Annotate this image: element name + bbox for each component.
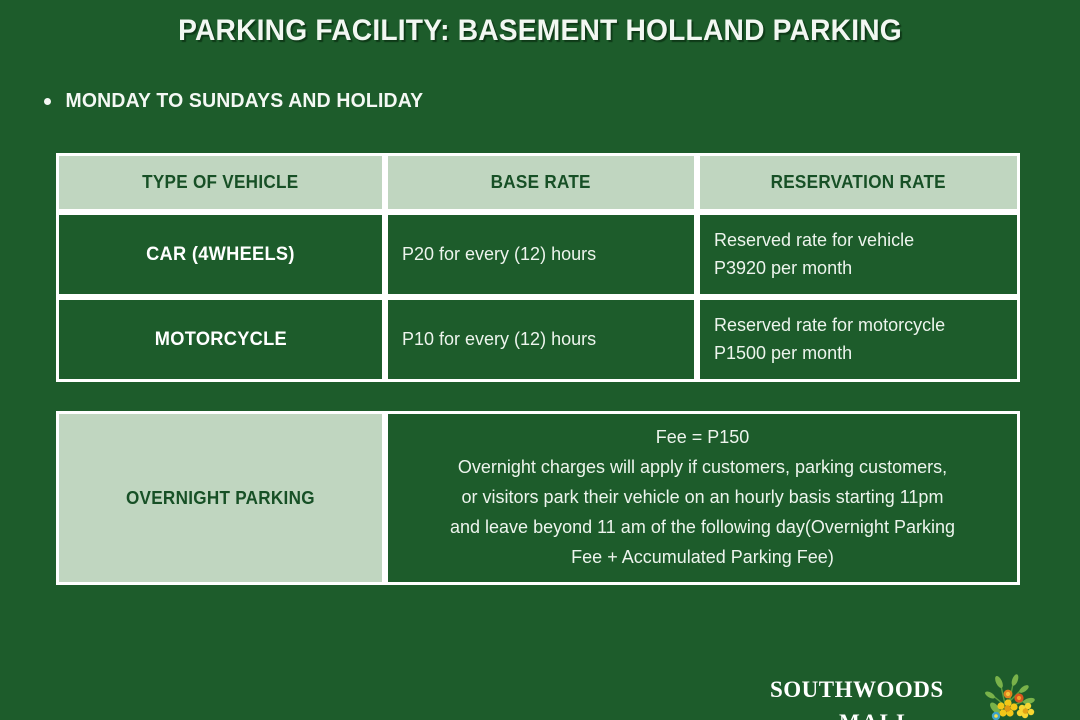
cell-vehicle-motorcycle: MOTORCYCLE xyxy=(56,297,385,382)
column-header-type-of-vehicle: TYPE OF VEHICLE xyxy=(56,153,385,212)
reservation-rate-car-line2: P3920 per month xyxy=(714,255,1017,283)
overnight-line-4: and leave beyond 11 am of the following … xyxy=(398,513,1007,543)
overnight-parking-description: Fee = P150 Overnight charges will apply … xyxy=(385,411,1020,585)
parking-rate-table: TYPE OF VEHICLE BASE RATE RESERVATION RA… xyxy=(56,153,1020,382)
bullet-dot-icon xyxy=(44,98,51,105)
column-header-reservation-rate: RESERVATION RATE xyxy=(697,153,1020,212)
table-header-row: TYPE OF VEHICLE BASE RATE RESERVATION RA… xyxy=(56,153,1020,212)
floral-decoration-icon xyxy=(975,672,1045,720)
page-title: PARKING FACILITY: BASEMENT HOLLAND PARKI… xyxy=(32,14,1047,48)
cell-base-rate-car: P20 for every (12) hours xyxy=(385,212,697,297)
overnight-row: OVERNIGHT PARKING Fee = P150 Overnight c… xyxy=(56,411,1020,585)
schedule-bullet: MONDAY TO SUNDAYS AND HOLIDAY xyxy=(44,90,429,113)
logo-subtext: Mall xyxy=(770,703,982,720)
reservation-rate-motorcycle-line2: P1500 per month xyxy=(714,340,1017,368)
cell-reservation-rate-car: Reserved rate for vehicle P3920 per mont… xyxy=(697,212,1020,297)
cell-reservation-rate-motorcycle: Reserved rate for motorcycle P1500 per m… xyxy=(697,297,1020,382)
overnight-line-1: Fee = P150 xyxy=(398,423,1007,453)
overnight-line-2: Overnight charges will apply if customer… xyxy=(398,453,1007,483)
table-row: CAR (4WHEELS) P20 for every (12) hours R… xyxy=(56,212,1020,297)
reservation-rate-car-line1: Reserved rate for vehicle xyxy=(714,227,1017,255)
reservation-rate-motorcycle-line1: Reserved rate for motorcycle xyxy=(714,312,1017,340)
overnight-line-3: or visitors park their vehicle on an hou… xyxy=(398,483,1007,513)
cell-vehicle-car: CAR (4WHEELS) xyxy=(56,212,385,297)
column-header-base-rate: BASE RATE xyxy=(385,153,697,212)
southwoods-mall-logo: Southwoods Mall xyxy=(770,672,1080,720)
cell-base-rate-motorcycle: P10 for every (12) hours xyxy=(385,297,697,382)
overnight-parking-label: OVERNIGHT PARKING xyxy=(56,411,385,585)
overnight-line-5: Fee + Accumulated Parking Fee) xyxy=(398,543,1007,573)
schedule-bullet-label: MONDAY TO SUNDAYS AND HOLIDAY xyxy=(66,90,424,113)
table-row: MOTORCYCLE P10 for every (12) hours Rese… xyxy=(56,297,1020,382)
overnight-parking-table: OVERNIGHT PARKING Fee = P150 Overnight c… xyxy=(56,411,1020,585)
